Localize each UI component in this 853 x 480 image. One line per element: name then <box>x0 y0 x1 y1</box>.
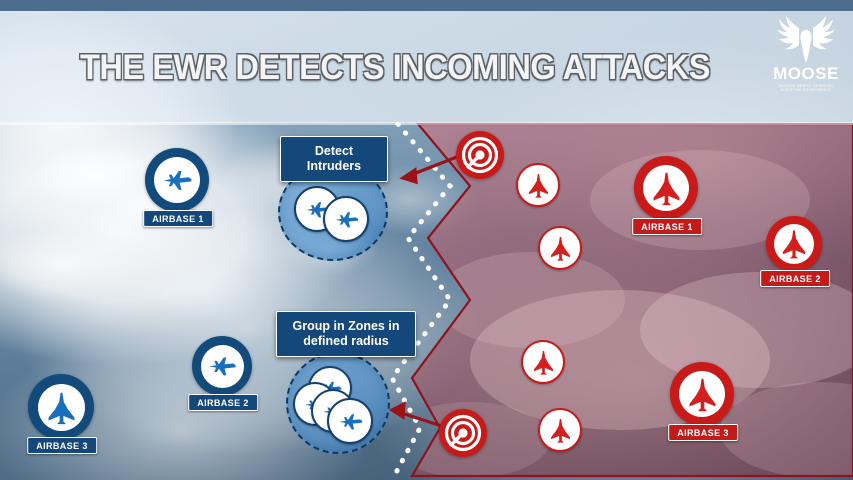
red-inbound-jet-2[interactable] <box>538 226 582 270</box>
top-accent-bar <box>0 0 853 11</box>
blue-airbase-1-label: AIRBASE 1 <box>143 210 213 227</box>
header-divider <box>0 122 853 125</box>
jet-right-icon <box>159 162 195 198</box>
red-airbase-2-inner <box>774 224 814 264</box>
moose-logo-wordmark: MOOSE <box>769 65 843 82</box>
blue-airbase-1[interactable]: AIRBASE 1 <box>145 148 211 228</box>
blue-airbase-2-disc <box>192 336 252 396</box>
jet-down-icon <box>530 349 557 376</box>
jet-down-icon <box>778 228 810 260</box>
moose-logo-subtitle: MISSION OBJECT ORIENTED SCRIPTING ENVIRO… <box>769 84 843 92</box>
red-airbase-3-disc <box>670 362 734 426</box>
red-inbound-jet-3[interactable] <box>521 340 565 384</box>
jet-down-icon <box>648 170 685 207</box>
jet-right-icon <box>332 205 361 234</box>
blue-airbase-2-inner <box>201 345 244 388</box>
page-title: THE EWR DETECTS INCOMING ATTACKS <box>28 48 763 88</box>
red-airbase-2[interactable]: AIRBASE 2 <box>766 216 824 290</box>
blue-airbase-1-disc <box>145 148 209 212</box>
moose-antlers-icon <box>775 14 837 64</box>
red-airbase-3-label: AIRBASE 3 <box>668 424 738 441</box>
jet-down-icon <box>525 172 552 199</box>
red-airbase-1-disc <box>634 156 698 220</box>
red-airbase-2-label: AIRBASE 2 <box>760 270 830 287</box>
blue-airbase-2[interactable]: AIRBASE 2 <box>192 336 254 414</box>
ewr-radar-north[interactable] <box>456 131 504 179</box>
jet-right-icon <box>205 349 239 383</box>
red-airbase-3-inner <box>679 371 725 417</box>
blue-airbase-3-disc <box>28 374 94 440</box>
blue-airbase-3-label: AIRBASE 3 <box>27 437 97 454</box>
red-airbase-2-disc <box>766 216 822 272</box>
callout-detect-intruders[interactable]: Detect Intruders <box>280 136 388 182</box>
red-airbase-1[interactable]: AIRBASE 1 <box>634 156 700 236</box>
jet-down-icon <box>43 389 80 426</box>
moose-logo: MOOSE MISSION OBJECT ORIENTED SCRIPTING … <box>769 14 843 96</box>
blue-airbase-2-label: AIRBASE 2 <box>188 394 258 411</box>
jet-right-icon <box>336 407 365 436</box>
jet-down-icon <box>684 376 721 413</box>
radar-icon <box>443 413 483 453</box>
jet-down-icon <box>547 417 574 444</box>
zone-south-jet-4[interactable] <box>327 398 373 444</box>
ewr-radar-south[interactable] <box>439 409 487 457</box>
blue-airbase-3-inner <box>38 384 85 431</box>
blue-airbase-1-inner <box>154 157 200 203</box>
jet-down-icon <box>547 235 574 262</box>
slide-canvas: THE EWR DETECTS INCOMING ATTACKS MOOSE M… <box>0 0 853 480</box>
red-inbound-jet-1[interactable] <box>516 163 560 207</box>
zone-north-jet-2[interactable] <box>323 196 369 242</box>
callout-group-in-zones[interactable]: Group in Zones in defined radius <box>276 311 416 357</box>
radar-icon <box>460 135 500 175</box>
red-airbase-3[interactable]: AIRBASE 3 <box>670 362 736 442</box>
red-airbase-1-label: AIRBASE 1 <box>632 218 702 235</box>
red-inbound-jet-4[interactable] <box>538 408 582 452</box>
red-airbase-1-inner <box>643 165 689 211</box>
blue-airbase-3[interactable]: AIRBASE 3 <box>28 374 96 454</box>
